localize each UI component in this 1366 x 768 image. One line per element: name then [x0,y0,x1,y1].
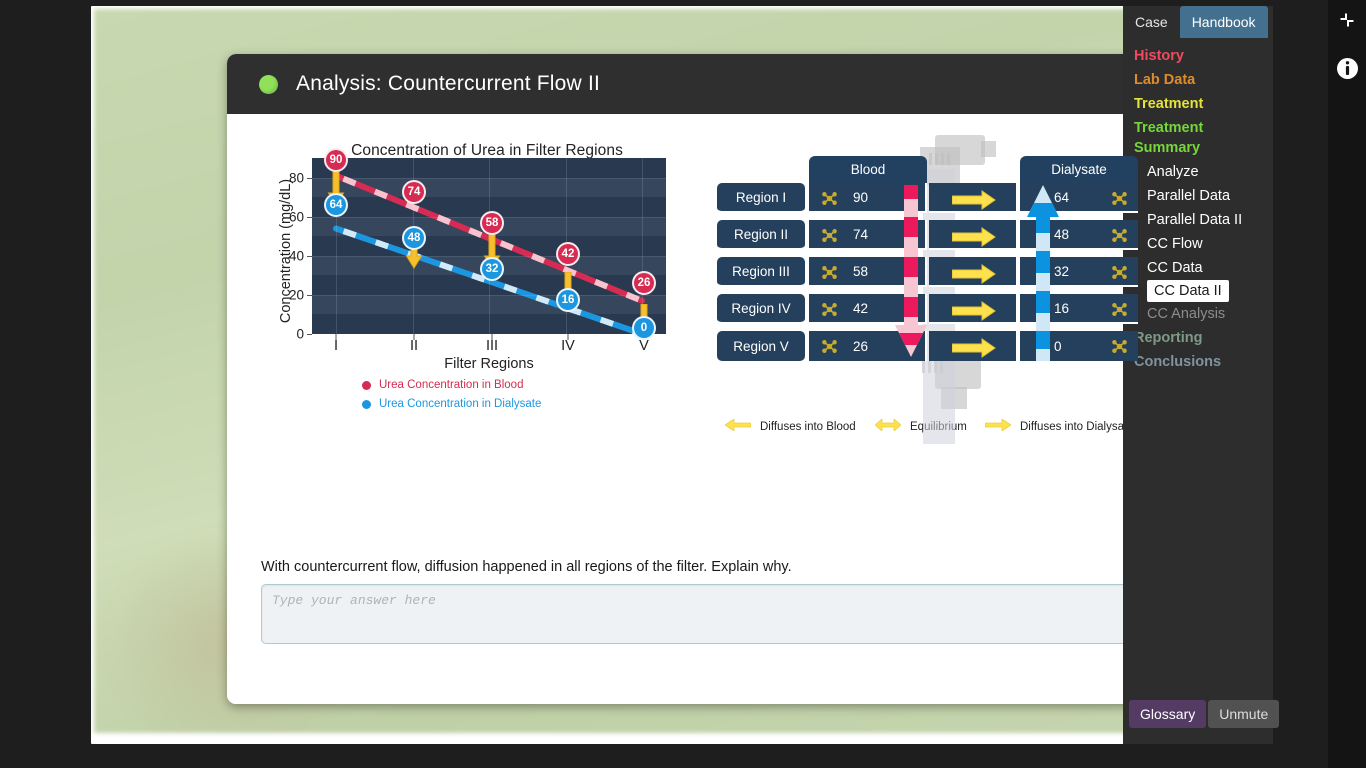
region-label: Region I [717,183,805,213]
sidebar-bottom-buttons: Glossary Unmute [1123,700,1279,728]
info-icon[interactable] [1336,57,1359,80]
sidebar-item-cc-data[interactable]: CC Data [1123,256,1273,280]
chart-legend-dialysate: Urea Concentration in Dialysate [362,398,541,410]
table-header-blood: Blood [809,156,927,183]
sidebar-item-treatment-summary[interactable]: Treatment Summary [1123,116,1219,160]
urea-molecule-icon [1111,190,1128,207]
dialysate-flow-arrow [1027,185,1059,366]
collapse-arrows-icon[interactable] [1336,9,1358,31]
region-label: Region III [717,257,805,287]
sidebar-item-cc-flow[interactable]: CC Flow [1123,232,1273,256]
legend-label-blood: Urea Concentration in Blood [379,379,523,391]
sidebar-item-history[interactable]: History [1123,44,1273,68]
region-label: Region IV [717,294,805,324]
urea-molecule-icon [1111,301,1128,318]
urea-molecule-icon [1111,227,1128,244]
sidebar-item-conclusions[interactable]: Conclusions [1123,350,1273,374]
diffusion-direction-arrow [952,190,997,215]
sidebar-item-parallel-data[interactable]: Parallel Data [1123,184,1273,208]
chart-point-dialysate-I: 64 [324,193,348,217]
urea-molecule-icon [821,190,838,207]
chart-ytickmark-20 [307,295,312,296]
sidebar-nav: History Lab Data Treatment Treatment Sum… [1123,38,1273,374]
sidebar-item-analyze[interactable]: Analyze [1123,160,1273,184]
chart-ytick-80: 80 [268,171,304,186]
legend-dot-blood [362,381,371,390]
glossary-button[interactable]: Glossary [1129,700,1206,728]
legend-label-dialysate: Urea Concentration in Dialysate [379,398,541,410]
urea-concentration-chart: Concentration of Urea in Filter Regions … [262,129,712,424]
arrow-legend-diffuses-into-blood: Diffuses into Blood [725,419,856,434]
card-header: Analysis: Countercurrent Flow II [227,54,1173,114]
machine-graphic-top-coil [929,153,951,165]
sidebar-item-lab-data[interactable]: Lab Data [1123,68,1273,92]
urea-molecule-icon [821,264,838,281]
arrow-left-icon [725,419,751,434]
sidebar-item-reporting[interactable]: Reporting [1123,326,1273,350]
card-body: Concentration of Urea in Filter Regions … [227,114,1173,704]
sidebar-item-cc-data-ii[interactable]: CC Data II [1147,280,1229,302]
browser-viewport: Analysis: Countercurrent Flow II Concent… [91,6,1273,744]
blood-flow-arrow [895,185,927,366]
sidebar-tabs: Case Handbook [1123,6,1273,38]
urea-molecule-icon [821,338,838,355]
chart-point-dialysate-IV: 16 [556,288,580,312]
filter-region-diagram: Blood Dialysate Region I 90 64 Region II [717,149,1147,479]
chart-xtick-3: III [472,338,512,354]
arrow-bidirectional-icon [875,419,901,434]
arrow-legend-diffuses-into-dialysate: Diffuses into Dialysate [985,419,1134,434]
region-label: Region V [717,331,805,361]
arrow-right-icon [985,419,1011,434]
right-rail [1328,0,1366,768]
chart-x-axis-label: Filter Regions [312,356,666,372]
chart-ytick-60: 60 [268,210,304,225]
chart-point-blood-II: 74 [402,180,426,204]
chart-point-dialysate-III: 32 [480,257,504,281]
right-sidebar: Case Handbook History Lab Data Treatment… [1123,6,1273,744]
sidebar-item-treatment[interactable]: Treatment [1123,92,1273,116]
diffusion-direction-arrow [952,338,997,363]
urea-molecule-icon [821,227,838,244]
chart-xtick-4: IV [548,338,588,354]
chart-xtick-2: II [394,338,434,354]
diffusion-direction-arrow [952,264,997,289]
chart-point-blood-I: 90 [324,148,348,172]
table-header-dialysate: Dialysate [1020,156,1138,183]
sidebar-item-cc-analysis: CC Analysis [1123,302,1273,326]
diffusion-direction-arrow [952,227,997,252]
status-dot [259,75,278,94]
urea-molecule-icon [821,301,838,318]
chart-ytick-0: 0 [268,327,304,342]
answer-input[interactable] [261,584,1138,644]
chart-point-blood-V: 26 [632,271,656,295]
chart-point-blood-III: 58 [480,211,504,235]
chart-legend-blood: Urea Concentration in Blood [362,379,523,391]
chart-ytickmark-40 [307,256,312,257]
chart-xtick-1: I [316,338,356,354]
app-root: Analysis: Countercurrent Flow II Concent… [0,0,1366,768]
chart-ytick-20: 20 [268,288,304,303]
unmute-button[interactable]: Unmute [1208,700,1279,728]
tab-handbook[interactable]: Handbook [1180,6,1268,38]
machine-graphic-top-stub [981,141,996,157]
chart-ytick-40: 40 [268,249,304,264]
lesson-card: Analysis: Countercurrent Flow II Concent… [227,54,1173,704]
page-title: Analysis: Countercurrent Flow II [296,72,600,96]
urea-molecule-icon [1111,264,1128,281]
diffusion-direction-arrow [952,301,997,326]
chart-ytickmark-0 [307,334,312,335]
region-label: Region II [717,220,805,250]
chart-point-dialysate-II: 48 [402,226,426,250]
arrow-legend-label: Diffuses into Dialysate [1020,421,1134,433]
arrow-legend-label: Diffuses into Blood [760,421,856,433]
sidebar-item-parallel-data-ii[interactable]: Parallel Data II [1123,208,1273,232]
legend-dot-dialysate [362,400,371,409]
urea-molecule-icon [1111,338,1128,355]
question-prompt: With countercurrent flow, diffusion happ… [261,559,792,575]
chart-point-blood-IV: 42 [556,242,580,266]
chart-point-dialysate-V: 0 [632,316,656,340]
chart-ytickmark-60 [307,217,312,218]
tab-case[interactable]: Case [1123,6,1180,38]
chart-ytickmark-80 [307,178,312,179]
